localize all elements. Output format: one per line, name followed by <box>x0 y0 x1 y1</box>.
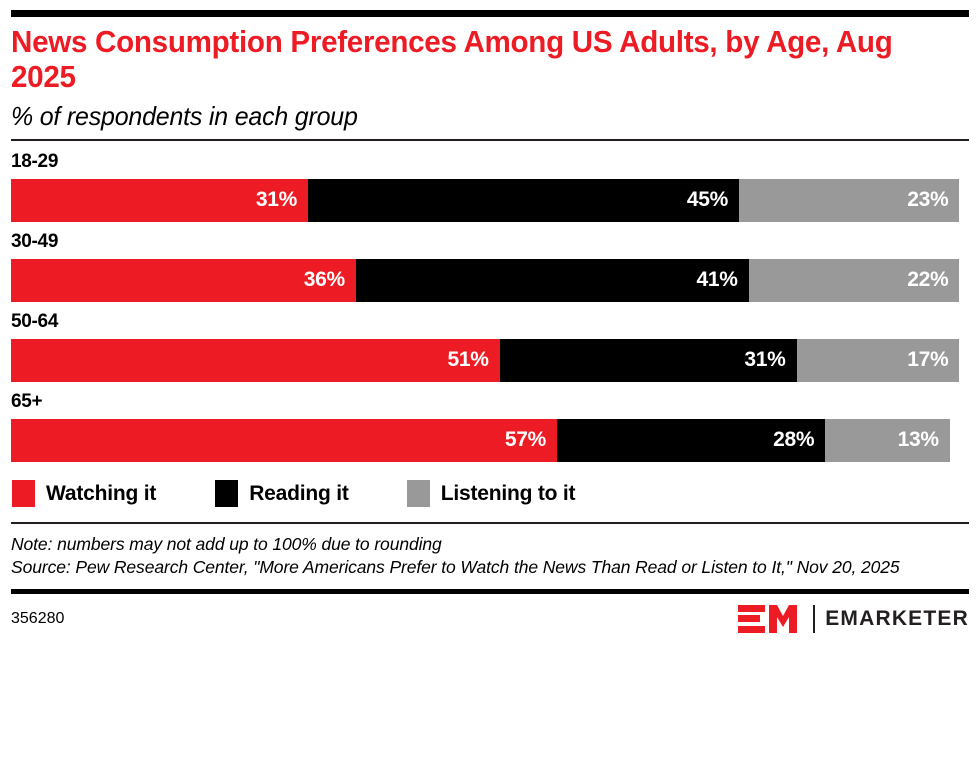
footer-rule <box>11 589 969 594</box>
legend-label: Watching it <box>46 482 156 506</box>
brand-name: EMARKETER <box>825 607 969 631</box>
bar-segment-listening: 23% <box>739 179 959 222</box>
footer: 356280 EMARKETER <box>11 603 969 635</box>
bar-segment-listening: 17% <box>797 339 960 382</box>
chart-id: 356280 <box>11 610 64 628</box>
brand-divider <box>813 605 815 633</box>
legend-item[interactable]: Watching it <box>12 480 156 507</box>
stacked-bar: 51%31%17% <box>11 339 969 382</box>
legend-swatch-icon <box>215 480 238 507</box>
bar-segment-reading: 31% <box>500 339 797 382</box>
bar-group: 65+57%28%13% <box>11 392 969 462</box>
bar-segment-watching: 57% <box>11 419 557 462</box>
legend-label: Listening to it <box>441 482 576 506</box>
bar-group: 18-2931%45%23% <box>11 152 969 222</box>
top-rule <box>11 10 969 17</box>
bar-group-label: 18-29 <box>11 152 969 179</box>
legend-item[interactable]: Reading it <box>215 480 349 507</box>
bar-group: 30-4936%41%22% <box>11 232 969 302</box>
bar-segment-listening: 13% <box>825 419 950 462</box>
bar-group-label: 65+ <box>11 392 969 419</box>
chart-legend: Watching itReading itListening to it <box>11 479 969 509</box>
bar-group: 50-6451%31%17% <box>11 312 969 382</box>
legend-divider <box>11 522 969 524</box>
legend-swatch-icon <box>407 480 430 507</box>
legend-label: Reading it <box>249 482 349 506</box>
chart-notes: Note: numbers may not add up to 100% due… <box>11 533 969 580</box>
bar-segment-watching: 51% <box>11 339 500 382</box>
legend-swatch-icon <box>12 480 35 507</box>
stacked-bar: 36%41%22% <box>11 259 969 302</box>
bar-segment-watching: 36% <box>11 259 356 302</box>
stacked-bar: 31%45%23% <box>11 179 969 222</box>
em-logo-icon <box>738 603 804 635</box>
stacked-bar: 57%28%13% <box>11 419 969 462</box>
header-divider <box>11 139 969 141</box>
brand-logo: EMARKETER <box>738 603 969 635</box>
legend-item[interactable]: Listening to it <box>407 480 576 507</box>
page-title: News Consumption Preferences Among US Ad… <box>11 25 940 96</box>
bar-segment-reading: 45% <box>308 179 739 222</box>
bar-segment-listening: 22% <box>749 259 960 302</box>
bar-segment-reading: 41% <box>356 259 749 302</box>
bar-group-label: 30-49 <box>11 232 969 259</box>
bar-segment-watching: 31% <box>11 179 308 222</box>
chart-page: News Consumption Preferences Among US Ad… <box>0 10 980 759</box>
bar-group-label: 50-64 <box>11 312 969 339</box>
stacked-bar-chart: 18-2931%45%23%30-4936%41%22%50-6451%31%1… <box>11 152 969 462</box>
page-subtitle: % of respondents in each group <box>11 102 931 132</box>
note-text: Note: numbers may not add up to 100% due… <box>11 533 969 556</box>
bar-segment-reading: 28% <box>557 419 825 462</box>
source-text: Source: Pew Research Center, "More Ameri… <box>11 556 969 579</box>
